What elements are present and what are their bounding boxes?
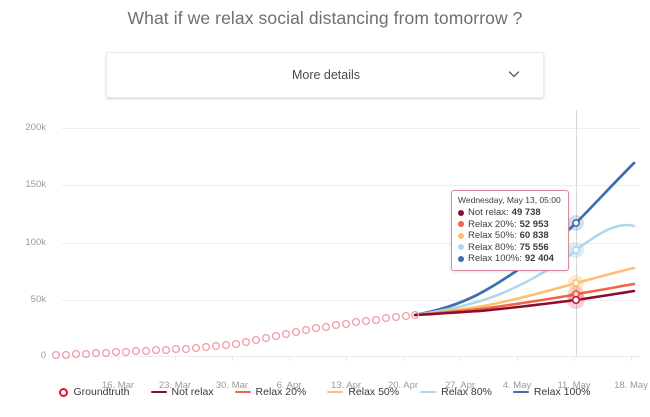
chevron-down-icon — [507, 67, 521, 81]
chart-page: What if we relax social distancing from … — [0, 0, 650, 417]
tooltip-value-not-relax: 49 738 — [512, 207, 541, 219]
legend-label-groundtruth: Groundtruth — [73, 386, 129, 398]
y-tick-50k: 50k — [0, 294, 46, 305]
chart-area[interactable]: # of cumulative confirmed cases 200k 150… — [0, 110, 650, 417]
legend-item-relax-100[interactable]: Relax 100% — [513, 386, 591, 398]
legend-swatch-not-relax — [151, 391, 167, 393]
tooltip-row-not-relax: Not relax: 49 738 — [458, 207, 561, 219]
x-tick-mark — [631, 356, 632, 361]
legend-item-not-relax[interactable]: Not relax — [151, 386, 214, 398]
legend-swatch-relax-100 — [513, 391, 529, 393]
tooltip-row-relax-20: Relax 20%: 52 953 — [458, 219, 561, 231]
x-tick-mark — [346, 356, 347, 361]
tooltip-label-relax-20: Relax 20%: — [468, 219, 517, 231]
tooltip-dot-relax-20 — [458, 221, 464, 227]
legend-label-relax-50: Relax 50% — [348, 386, 399, 398]
x-tick-mark — [289, 356, 290, 361]
point-not-relax — [573, 297, 580, 304]
y-tick-0: 0 — [0, 350, 46, 361]
legend-label-relax-20: Relax 20% — [256, 386, 307, 398]
tooltip-value-relax-100: 92 404 — [525, 253, 554, 265]
x-tick-mark — [460, 356, 461, 361]
legend-item-relax-80[interactable]: Relax 80% — [420, 386, 492, 398]
tooltip-timestamp: Wednesday, May 13, 05:00 — [458, 195, 561, 205]
tooltip-value-relax-20: 52 953 — [520, 219, 549, 231]
x-tick-mark — [175, 356, 176, 361]
legend-swatch-relax-80 — [420, 391, 436, 393]
tooltip-label-relax-80: Relax 80%: — [468, 242, 517, 254]
x-tick-mark — [232, 356, 233, 361]
tooltip-label-not-relax: Not relax: — [468, 207, 509, 219]
x-tick-mark — [118, 356, 119, 361]
legend-item-groundtruth[interactable]: Groundtruth — [59, 386, 129, 398]
x-tick-mark — [574, 356, 575, 361]
legend-swatch-relax-50 — [327, 391, 343, 393]
chart-legend: Groundtruth Not relax Relax 20% Relax 50… — [0, 386, 650, 398]
point-relax-50 — [573, 280, 579, 286]
tooltip-label-relax-50: Relax 50%: — [468, 230, 517, 242]
tooltip-value-relax-50: 60 838 — [520, 230, 549, 242]
tooltip-dot-relax-50 — [458, 233, 464, 239]
tooltip-label-relax-100: Relax 100%: — [468, 253, 522, 265]
legend-label-relax-100: Relax 100% — [534, 386, 591, 398]
legend-item-relax-50[interactable]: Relax 50% — [327, 386, 399, 398]
x-tick-mark — [517, 356, 518, 361]
groundtruth-ring-icon — [59, 388, 68, 397]
more-details-button[interactable]: More details — [106, 52, 544, 98]
tooltip-dot-not-relax — [458, 210, 464, 216]
tooltip-value-relax-80: 75 556 — [520, 242, 549, 254]
tooltip-dot-relax-100 — [458, 256, 464, 262]
more-details-label: More details — [107, 53, 545, 97]
point-relax-80 — [573, 247, 579, 253]
y-tick-200k: 200k — [0, 122, 46, 133]
point-relax-100 — [573, 220, 579, 226]
legend-swatch-relax-20 — [235, 391, 251, 393]
tooltip-dot-relax-80 — [458, 244, 464, 250]
y-tick-100k: 100k — [0, 237, 46, 248]
legend-item-relax-20[interactable]: Relax 20% — [235, 386, 307, 398]
tooltip-row-relax-80: Relax 80%: 75 556 — [458, 242, 561, 254]
legend-label-not-relax: Not relax — [172, 386, 214, 398]
y-tick-150k: 150k — [0, 179, 46, 190]
legend-label-relax-80: Relax 80% — [441, 386, 492, 398]
x-tick-mark — [403, 356, 404, 361]
page-title: What if we relax social distancing from … — [0, 8, 650, 29]
tooltip: Wednesday, May 13, 05:00 Not relax: 49 7… — [451, 190, 569, 271]
tooltip-row-relax-50: Relax 50%: 60 838 — [458, 230, 561, 242]
series-groundtruth-markers — [53, 312, 419, 359]
tooltip-row-relax-100: Relax 100%: 92 404 — [458, 253, 561, 265]
x-axis-line — [62, 356, 640, 357]
